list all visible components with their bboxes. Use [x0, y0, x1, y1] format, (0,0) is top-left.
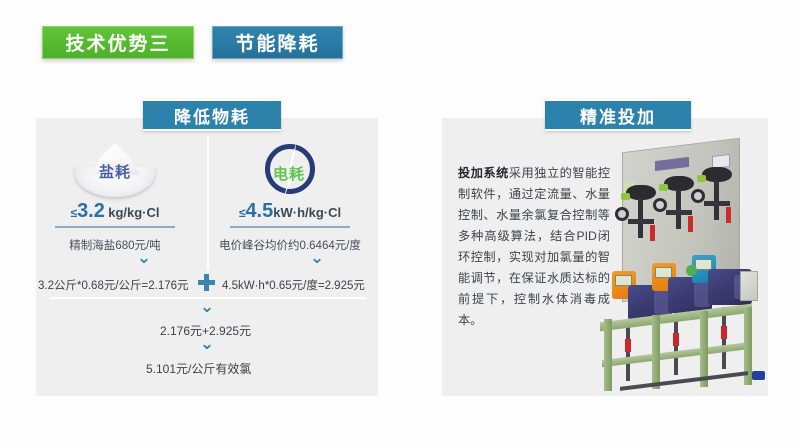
dosing-pump-equipment-photo — [600, 143, 772, 393]
top-badge-bar: 技术优势三 节能降耗 — [0, 0, 800, 80]
green-fitting-1 — [621, 193, 630, 200]
electricity-bolt-icon: 电耗 — [246, 141, 332, 201]
pressure-gauge-3 — [691, 189, 705, 203]
plus-operator-icon — [198, 274, 215, 291]
chevron-down-icon-total: ⌄ — [197, 340, 217, 355]
chevron-down-icon-power: ⌄ — [307, 254, 327, 269]
dosing-description-text: 投加系统采用独立的智能控制软件，通过定流量、水量控制、水量余氯复合控制等多种高级… — [458, 163, 610, 331]
section-title-precise-dosing: 精准投加 — [545, 99, 691, 131]
formula-salt-cost: 3.2公斤*0.68元/公斤=2.176元 — [38, 277, 189, 293]
valve-stem-1 — [638, 198, 643, 238]
salt-pile-icon: 盐耗 — [72, 141, 158, 201]
chevron-stroke-c: ⌄ — [197, 303, 217, 310]
valve-crossbar-1 — [628, 219, 654, 224]
red-handle-2 — [688, 216, 693, 232]
dosing-description-lead: 投加系统 — [458, 166, 509, 180]
section-title-reduce-material-consumption: 降低物耗 — [143, 99, 281, 131]
control-enclosure — [740, 271, 758, 301]
pressure-gauge-1 — [615, 207, 629, 221]
green-fitting-3 — [697, 175, 706, 182]
badge-energy-saving: 节能降耗 — [212, 26, 343, 59]
metric-salt-underline — [55, 226, 175, 228]
red-handle-3 — [726, 207, 731, 223]
frame-leg-2 — [652, 315, 660, 389]
metric-power-underline — [230, 226, 350, 228]
metric-salt-number: 3.2 — [77, 200, 105, 222]
metric-power-unit: kW·h/kg·Cl — [273, 205, 341, 220]
valve-stem-3 — [714, 180, 719, 220]
valve-crossbar-2 — [666, 210, 692, 215]
dosing-description-body: 采用独立的智能控制软件，通过定流量、水量控制、水量余氯复合控制等多种高级算法，结… — [458, 166, 610, 327]
green-valve-head-3 — [686, 265, 697, 276]
badge-technical-advantage: 技术优势三 — [42, 26, 194, 59]
pressure-gauge-2 — [653, 198, 667, 212]
chevron-stroke-a: ⌄ — [134, 254, 154, 261]
chevron-stroke-b: ⌄ — [307, 254, 327, 261]
formula-power-cost: 4.5kW·h*0.65元/度=2.925元 — [222, 277, 365, 293]
blue-outlet-valve — [752, 371, 765, 380]
metric-power-number: 4.5 — [245, 200, 273, 222]
valve-stem-2 — [676, 189, 681, 229]
metric-power-consumption: ≤4.5kW·h/kg·Cl 电价峰谷均价约0.6464元/度 — [205, 200, 375, 253]
electricity-icon-label: 电耗 — [246, 163, 332, 184]
green-fitting-2 — [659, 184, 668, 191]
chevron-stroke-d: ⌄ — [197, 340, 217, 347]
red-handle-1 — [650, 225, 655, 241]
metric-power-note: 电价峰谷均价约0.6464元/度 — [205, 237, 375, 253]
chevron-down-icon-salt: ⌄ — [134, 254, 154, 269]
metric-salt-consumption: ≤3.2 kg/kg·Cl 精制海盐680元/吨 — [30, 200, 200, 253]
metric-salt-note: 精制海盐680元/吨 — [30, 237, 200, 253]
chevron-down-icon-sum: ⌄ — [197, 303, 217, 318]
salt-icon-label: 盐耗 — [72, 161, 158, 182]
metric-power-value: ≤4.5kW·h/kg·Cl — [205, 200, 375, 223]
metric-salt-unit: kg/kg·Cl — [108, 205, 159, 220]
frame-leg-1 — [604, 319, 612, 391]
valve-crossbar-3 — [704, 201, 730, 206]
frame-mid-rail — [602, 342, 752, 367]
metric-salt-value: ≤3.2 kg/kg·Cl — [30, 200, 200, 223]
formula-total-result: 5.101元/公斤有效氯 — [146, 360, 251, 377]
